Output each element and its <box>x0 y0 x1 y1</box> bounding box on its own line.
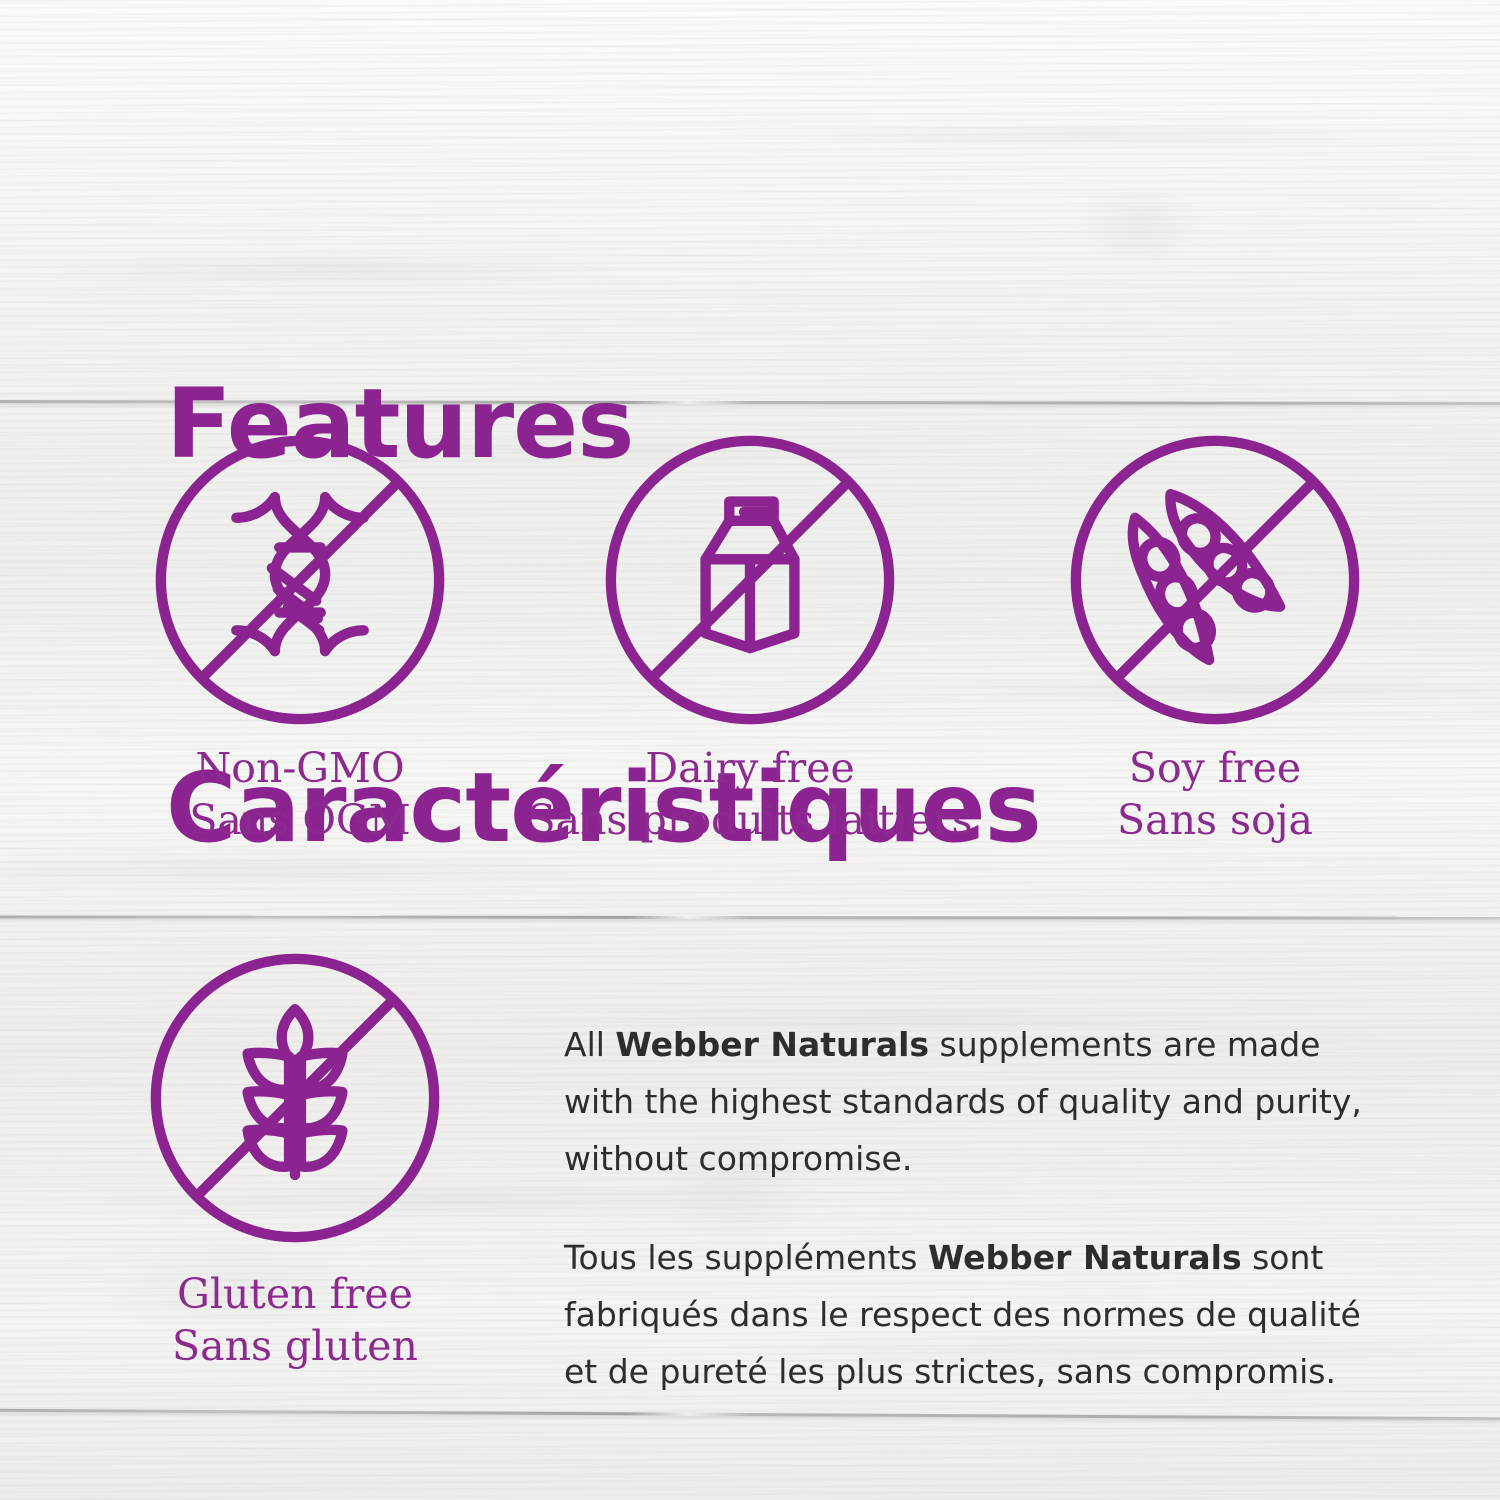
statement-en-before: All <box>564 1025 615 1064</box>
no-dairy-milk-carton-icon <box>602 432 898 728</box>
feature-panel: Features Caractéristiques <box>0 0 1500 1500</box>
statement-fr-before: Tous les suppléments <box>564 1238 928 1277</box>
feature-soy-free: Soy free Sans soja <box>945 432 1485 846</box>
brand-name: Webber Naturals <box>928 1238 1242 1277</box>
brand-statement: All Webber Naturals supplements are made… <box>564 1016 1364 1400</box>
feature-label: Soy free Sans soja <box>945 742 1485 846</box>
brand-name: Webber Naturals <box>615 1025 929 1064</box>
brand-statement-fr: Tous les suppléments Webber Naturals son… <box>564 1229 1364 1400</box>
no-gmo-dna-icon <box>152 432 448 728</box>
feature-dairy-free: Dairy free Sans produits laitiers <box>480 432 1020 846</box>
feature-label: Dairy free Sans produits laitiers <box>480 742 1020 846</box>
no-gluten-wheat-icon <box>147 950 443 1246</box>
no-soy-pea-pod-icon <box>1067 432 1363 728</box>
brand-statement-en: All Webber Naturals supplements are made… <box>564 1016 1364 1187</box>
feature-label: Gluten free Sans gluten <box>25 1268 565 1372</box>
feature-gluten-free: Gluten free Sans gluten <box>25 950 565 1372</box>
